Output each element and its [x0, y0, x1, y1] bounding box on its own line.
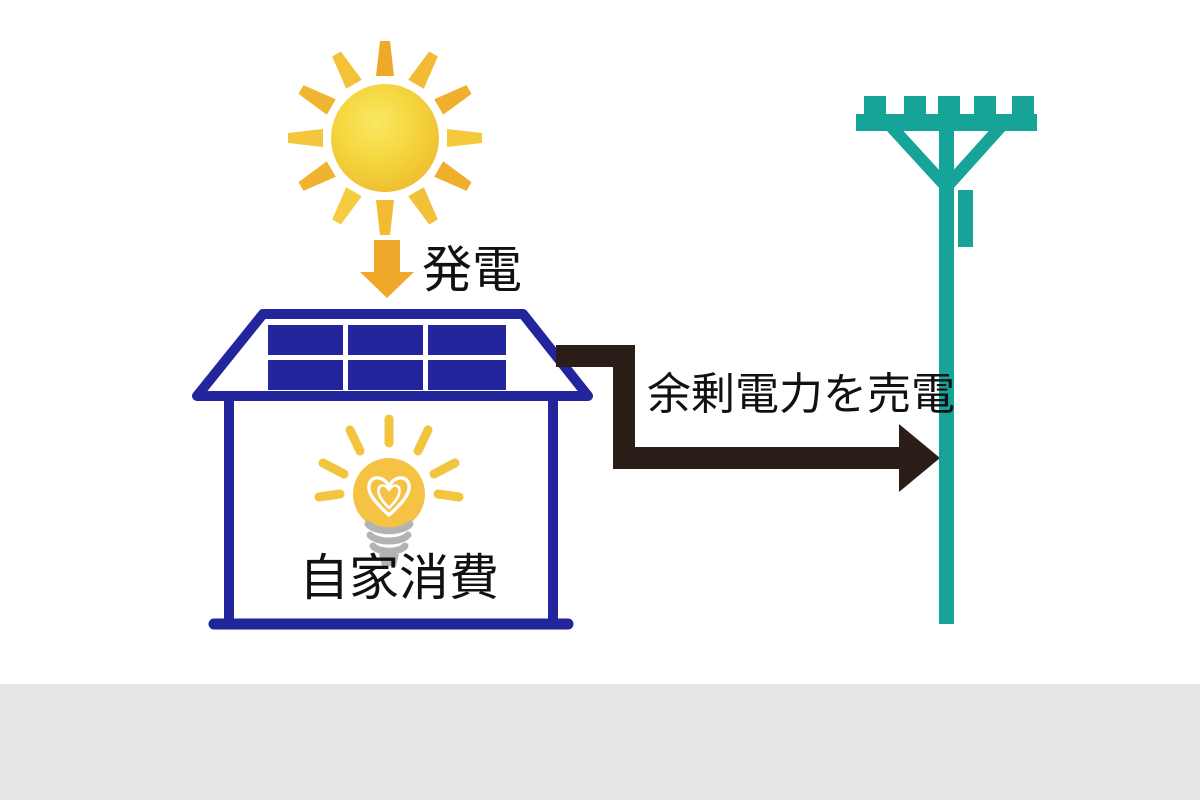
pole-transformer: [958, 190, 973, 247]
sun-icon: [288, 41, 482, 235]
lightbulb-base: [368, 524, 410, 551]
label-sell-surplus: 余剰電力を売電: [647, 373, 955, 417]
sun-disc: [331, 84, 439, 192]
label-generate: 発電: [422, 245, 522, 295]
utility-pole-icon: [856, 96, 1037, 624]
label-self-consumption: 自家消費: [299, 553, 499, 603]
lightbulb-icon: [319, 419, 459, 566]
down-arrow-icon: [360, 240, 414, 298]
footer-bar: 太陽光発電: [0, 684, 1200, 800]
solar-power-illustration: [0, 0, 1200, 800]
lightbulb-glass: [353, 458, 425, 530]
diagram-canvas: 発電 余剰電力を売電 自家消費 太陽光発電: [0, 0, 1200, 800]
solar-panel-grid: [268, 325, 506, 390]
